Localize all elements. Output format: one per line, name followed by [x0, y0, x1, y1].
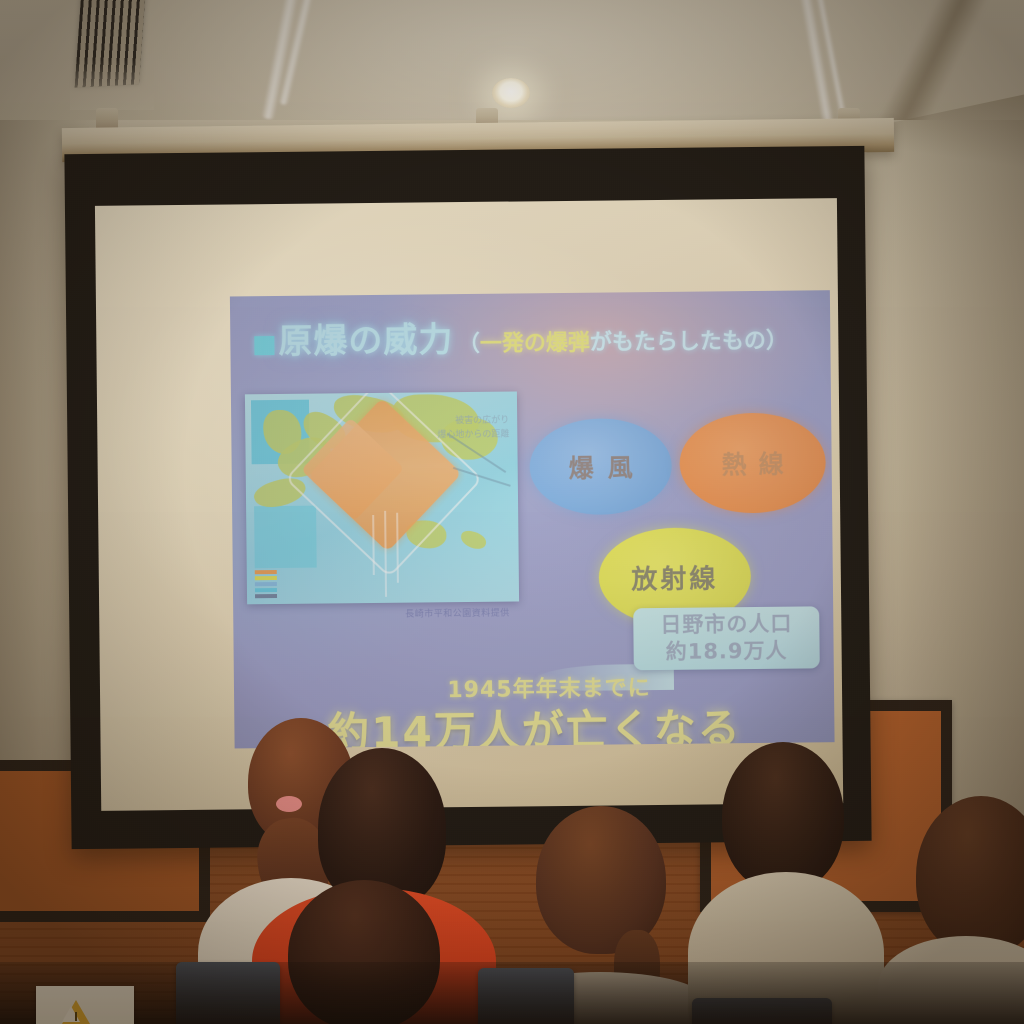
map-legend-swatch	[255, 570, 277, 574]
ellipse-label-radiation: 放射線	[631, 558, 718, 596]
map-inset-panel	[254, 506, 317, 569]
population-callout-line2: 約18.9万人	[666, 638, 788, 666]
head	[722, 742, 844, 892]
slide-title-sub-highlight: 一発の爆弾	[480, 331, 590, 357]
callout-ellipse-heat-ray: 熱線	[679, 412, 826, 514]
slide-title-sub-rest: がもたらしたもの）	[590, 329, 788, 356]
slide-title: 原爆の威力 （一発の爆弾がもたらしたもの）	[254, 308, 814, 363]
warning-triangle-inner	[62, 1006, 80, 1022]
lecture-hall-photo: 原爆の威力 （一発の爆弾がもたらしたもの）	[0, 0, 1024, 1024]
map-legend-swatch	[255, 594, 277, 598]
conclusion-line-2: 約14万人が亡くなる	[262, 694, 807, 748]
slide-title-sub-open: （	[458, 332, 480, 357]
downlight-icon	[492, 78, 530, 108]
ellipse-label-heat-ray: 熱線	[709, 445, 795, 482]
map-watermark: 被害の広がり 爆心地からの距離	[437, 414, 509, 443]
map-watermark-line2: 爆心地からの距離	[437, 428, 509, 443]
hair-tie	[276, 796, 302, 812]
map-watermark-line1: 被害の広がり	[437, 414, 509, 429]
population-callout-box: 日野市の人口 約18.9万人	[633, 606, 820, 670]
damage-radius-map-image: 被害の広がり 爆心地からの距離	[245, 391, 519, 604]
projection-screen[interactable]: 原爆の威力 （一発の爆弾がもたらしたもの）	[64, 146, 871, 849]
map-legend-swatch	[255, 588, 277, 592]
map-legend	[255, 570, 319, 601]
ellipse-label-blast-wind: 爆風	[554, 448, 646, 485]
slide-title-sub: （一発の爆弾がもたらしたもの）	[458, 329, 788, 357]
foreground-shadow	[0, 962, 1024, 1024]
warning-placard	[36, 986, 134, 1024]
callout-ellipse-blast-wind: 爆風	[529, 418, 672, 515]
bullet-square-icon	[254, 336, 274, 355]
map-legend-swatch	[255, 582, 277, 586]
screen-surface: 原爆の威力 （一発の爆弾がもたらしたもの）	[95, 198, 843, 811]
map-legend-swatch	[255, 576, 277, 580]
slide-title-main: 原爆の威力	[278, 320, 453, 362]
warning-exclamation	[75, 1012, 77, 1021]
vent-shadow	[70, 60, 154, 110]
projected-slide: 原爆の威力 （一発の爆弾がもたらしたもの）	[230, 290, 835, 748]
population-callout-line1: 日野市の人口	[660, 611, 792, 639]
